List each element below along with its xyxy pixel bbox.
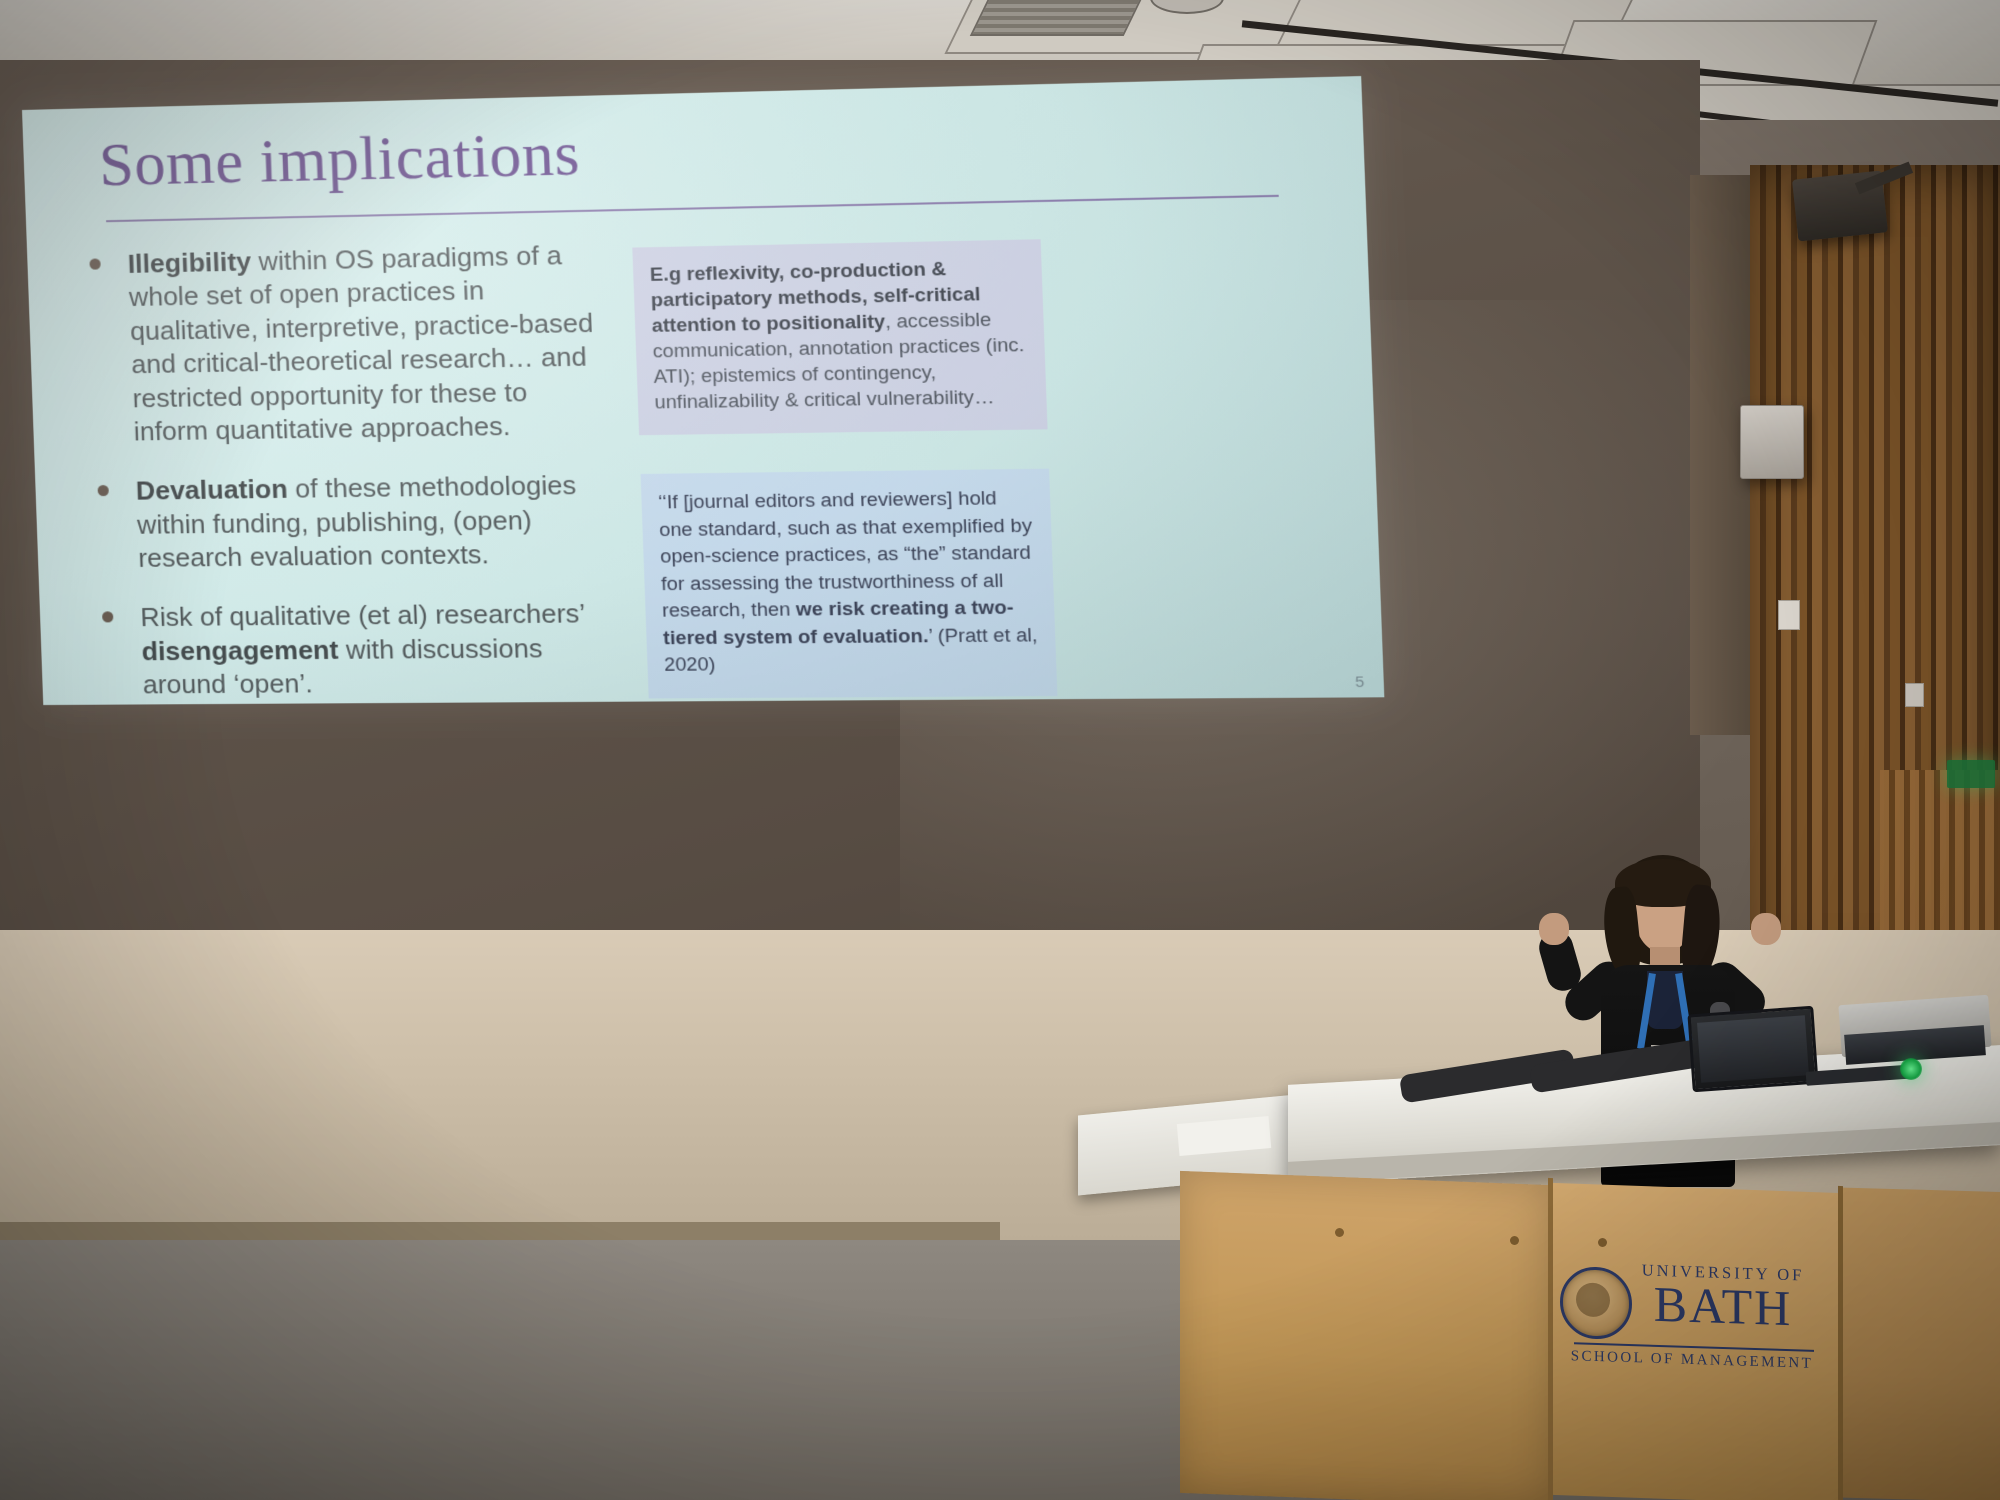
title-underline: [106, 195, 1279, 222]
logo-bath-wordmark: BATH: [1632, 1278, 1814, 1334]
logo-school-line: SCHOOL OF MANAGEMENT: [1570, 1348, 1814, 1373]
podium-seam: [1838, 1186, 1843, 1500]
quotation-callout-box: ‘‘If [journal editors and reviewers] hol…: [641, 469, 1058, 698]
status-led-green: [1900, 1058, 1922, 1080]
podium-fixing-dot: [1510, 1236, 1519, 1245]
bath-crest-icon: [1560, 1266, 1632, 1340]
podium-fixing-dot: [1335, 1228, 1344, 1237]
bullet-dot-icon: [89, 258, 100, 269]
university-of-bath-logo: UNIVERSITY OF BATH SCHOOL OF MANAGEMENT: [1568, 1244, 1816, 1386]
slide-number: 5: [1355, 673, 1365, 691]
projected-slide: Some implications Illegibility within OS…: [22, 76, 1384, 705]
examples-callout-box: E.g reflexivity, co-production & partici…: [632, 239, 1047, 435]
presenter-right-hand: [1751, 913, 1781, 945]
exit-sign-icon: [1947, 760, 1995, 788]
lecture-theatre-photo: Some implications Illegibility within OS…: [0, 0, 2000, 1500]
bullet-dot-icon: [102, 612, 113, 623]
bullet-lead-disengagement: disengagement: [141, 634, 339, 666]
presenter-left-hand: [1539, 913, 1569, 945]
bullet-item-illegibility: Illegibility within OS paradigms of a wh…: [75, 238, 612, 450]
slide-bullet-list: Illegibility within OS paradigms of a wh…: [75, 238, 623, 705]
wall-socket-plate[interactable]: [1905, 683, 1924, 707]
lectern-monitor[interactable]: [1687, 1006, 1818, 1093]
bullet-lead-illegibility: Illegibility: [127, 246, 251, 279]
bullet-pre-disengagement: Risk of qualitative (et al) researchers’: [140, 598, 585, 632]
bullet-item-devaluation: Devaluation of these methodologies withi…: [83, 468, 617, 575]
wall-switch-plate[interactable]: [1778, 600, 1800, 630]
slide-title: Some implications: [98, 118, 581, 201]
podium-panel-right: [1840, 1187, 2000, 1500]
podium-panel-left: [1180, 1171, 1550, 1500]
podium-seam: [1548, 1178, 1553, 1500]
monitor-screen: [1697, 1015, 1809, 1082]
bullet-item-disengagement: Risk of qualitative (et al) researchers’…: [88, 597, 622, 702]
bullet-dot-icon: [98, 485, 109, 496]
bullet-lead-devaluation: Devaluation: [135, 474, 288, 506]
wall-speaker: [1740, 405, 1804, 479]
